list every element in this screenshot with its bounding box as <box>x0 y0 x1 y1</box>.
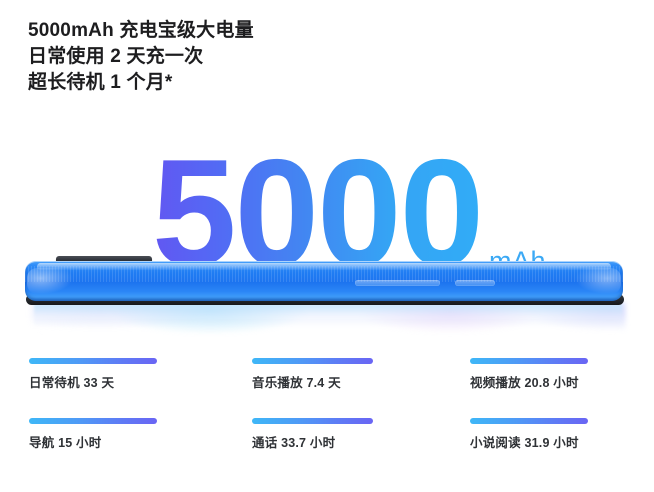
device-sheen <box>37 263 611 270</box>
device-left-cap-highlight <box>27 268 73 294</box>
stat-bar <box>252 418 373 424</box>
stat-label: 通话 33.7 小时 <box>252 434 335 452</box>
volume-button <box>355 280 440 286</box>
stat-bar <box>470 418 588 424</box>
stat-item: 小说阅读 31.9 小时 <box>470 412 654 470</box>
device-right-cap-highlight <box>575 268 621 294</box>
stat-bar <box>29 358 157 364</box>
power-button <box>455 280 495 286</box>
device-side-frame <box>25 261 623 301</box>
stat-item: 视频播放 20.8 小时 <box>470 352 654 410</box>
headline-line-1: 5000mAh 充电宝级大电量 <box>28 18 588 44</box>
stat-label: 导航 15 小时 <box>29 434 101 452</box>
stat-bar <box>470 358 588 364</box>
stat-row: 日常待机 33 天 音乐播放 7.4 天 视频播放 20.8 小时 <box>0 352 654 412</box>
battery-stats-grid: 日常待机 33 天 音乐播放 7.4 天 视频播放 20.8 小时 导航 15 … <box>0 352 654 482</box>
stat-item: 导航 15 小时 <box>29 412 229 470</box>
device-reflection <box>34 304 622 334</box>
headline-line-2: 日常使用 2 天充一次 <box>28 44 588 70</box>
page-headline: 5000mAh 充电宝级大电量 日常使用 2 天充一次 超长待机 1 个月* <box>28 18 588 96</box>
stat-bar <box>29 418 157 424</box>
phone-illustration <box>0 252 654 356</box>
stat-bar <box>252 358 373 364</box>
stat-label: 小说阅读 31.9 小时 <box>470 434 579 452</box>
headline-line-3: 超长待机 1 个月* <box>28 70 588 96</box>
stat-label: 日常待机 33 天 <box>29 374 114 392</box>
stat-label: 视频播放 20.8 小时 <box>470 374 579 392</box>
stat-label: 音乐播放 7.4 天 <box>252 374 341 392</box>
stat-item: 日常待机 33 天 <box>29 352 229 410</box>
stat-item: 通话 33.7 小时 <box>252 412 452 470</box>
stat-item: 音乐播放 7.4 天 <box>252 352 452 410</box>
stat-row: 导航 15 小时 通话 33.7 小时 小说阅读 31.9 小时 <box>0 412 654 472</box>
marketing-page: 5000mAh 充电宝级大电量 日常使用 2 天充一次 超长待机 1 个月* 5… <box>0 0 654 492</box>
